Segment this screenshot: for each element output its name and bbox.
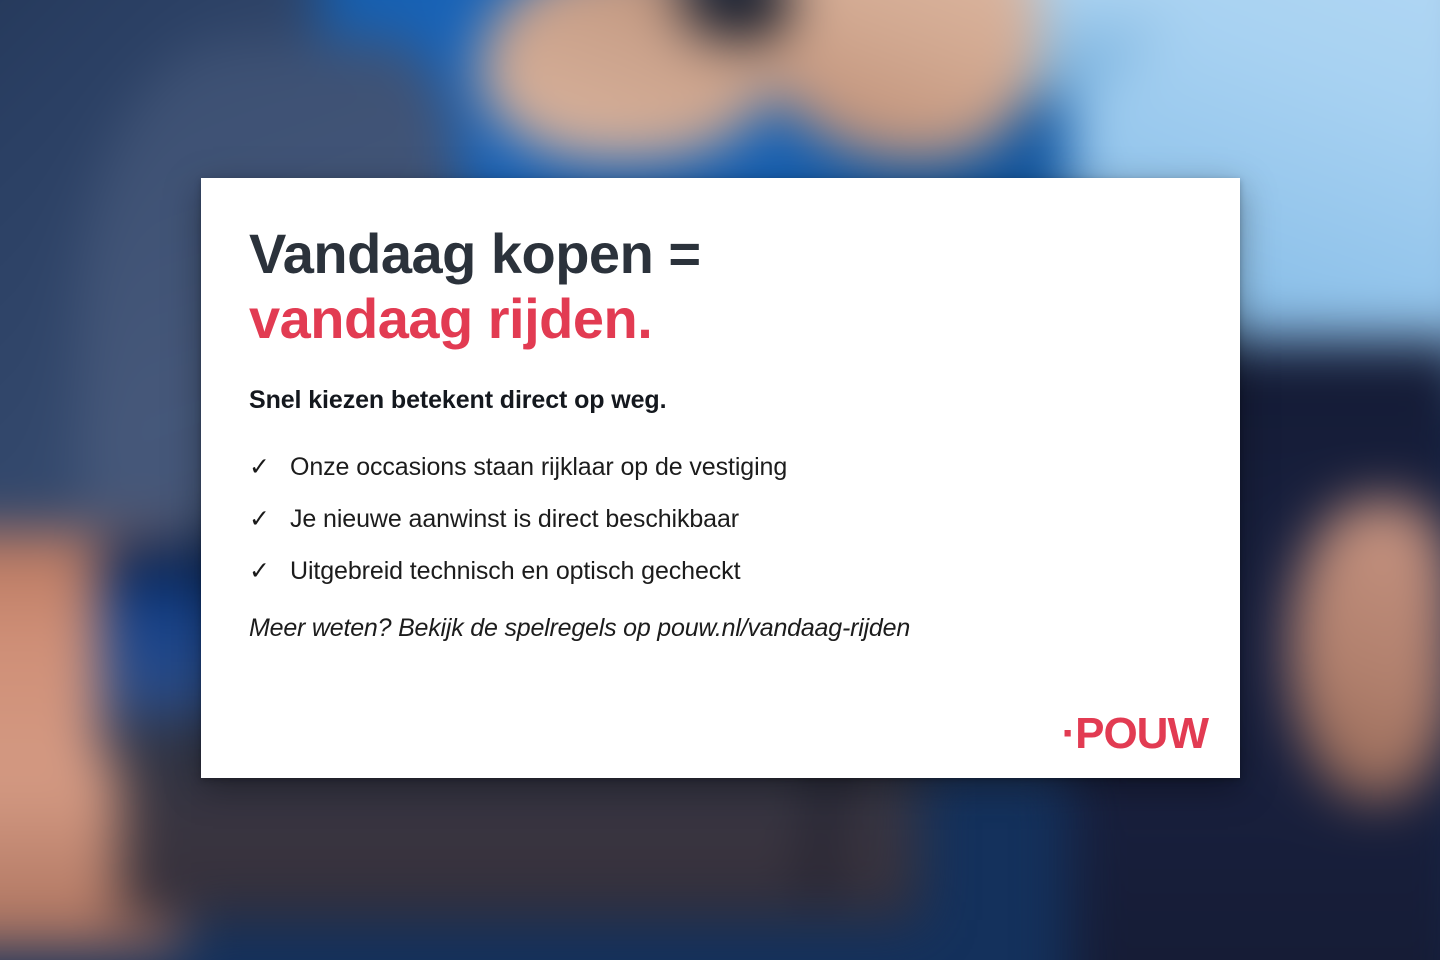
subheading: Snel kiezen betekent direct op weg.	[249, 386, 1200, 415]
list-item: ✓ Je nieuwe aanwinst is direct beschikba…	[249, 504, 1200, 534]
list-item: ✓ Uitgebreid technisch en optisch gechec…	[249, 556, 1200, 586]
check-icon: ✓	[249, 504, 290, 534]
check-icon: ✓	[249, 556, 290, 586]
footnote-text: Meer weten? Bekijk de spelregels op pouw…	[249, 614, 1200, 643]
list-item-label: Je nieuwe aanwinst is direct beschikbaar	[290, 505, 1200, 534]
headline-line-1: Vandaag kopen =	[249, 222, 1200, 287]
list-item-label: Uitgebreid technisch en optisch gecheckt	[290, 557, 1200, 586]
promo-card: Vandaag kopen = vandaag rijden. Snel kie…	[201, 178, 1240, 778]
headline: Vandaag kopen = vandaag rijden.	[249, 222, 1200, 352]
headline-line-2: vandaag rijden.	[249, 287, 1200, 352]
list-item: ✓ Onze occasions staan rijklaar op de ve…	[249, 452, 1200, 482]
background-right-person-hand	[1290, 500, 1440, 800]
advertisement-banner: Vandaag kopen = vandaag rijden. Snel kie…	[0, 0, 1440, 960]
logo-wordmark: POUW	[1075, 709, 1208, 758]
check-icon: ✓	[249, 452, 290, 482]
pouw-logo: ·POUW	[1061, 712, 1208, 756]
list-item-label: Onze occasions staan rijklaar op de vest…	[290, 453, 1200, 482]
benefits-list: ✓ Onze occasions staan rijklaar op de ve…	[249, 452, 1200, 586]
card-content: Vandaag kopen = vandaag rijden. Snel kie…	[249, 222, 1200, 748]
logo-dot: ·	[1061, 709, 1075, 758]
